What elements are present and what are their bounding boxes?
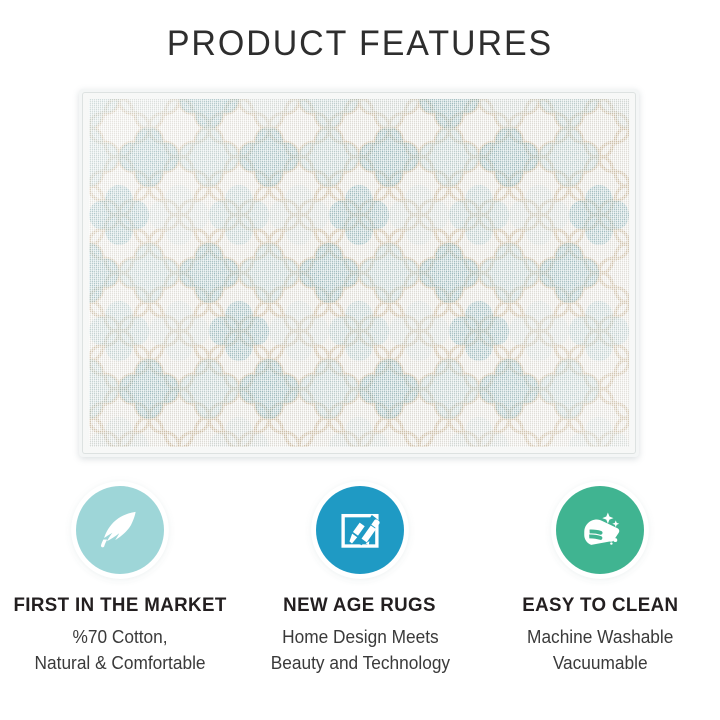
feature-line: %70 Cotton, [35,624,206,650]
feather-icon [93,503,147,557]
design-tools-icon [333,503,387,557]
feature-description: %70 Cotton, Natural & Comfortable [35,624,206,676]
page-title: PRODUCT FEATURES [11,22,709,66]
feature-heading: NEW AGE RUGS [284,593,437,617]
product-features-page: PRODUCT FEATURES [0,0,720,720]
cleaning-hand-icon [572,502,628,558]
product-image [82,92,636,454]
feature-item-easy-to-clean: EASY TO CLEAN Machine Washable Vacuumabl… [480,486,720,676]
feature-description: Home Design Meets Beauty and Technology [270,624,449,676]
feature-item-new-age-rugs: NEW AGE RUGS Home Design Meets Beauty an… [240,486,480,676]
feature-line: Vacuumable [527,650,673,676]
feature-line: Natural & Comfortable [35,650,206,676]
feature-list: FIRST IN THE MARKET %70 Cotton, Natural … [0,486,720,676]
feature-line: Beauty and Technology [270,650,449,676]
feature-heading: EASY TO CLEAN [522,593,678,617]
rug-field [89,99,629,447]
rug-binding [82,92,636,454]
rug-pattern [89,99,629,447]
feature-item-first-in-the-market: FIRST IN THE MARKET %70 Cotton, Natural … [0,486,240,676]
feature-description: Machine Washable Vacuumable [527,624,673,676]
design-tools-icon-circle [316,486,404,574]
feature-heading: FIRST IN THE MARKET [13,593,226,617]
feature-line: Machine Washable [527,624,673,650]
feature-line: Home Design Meets [270,624,449,650]
cleaning-hand-icon-circle [556,486,644,574]
feather-icon-circle [76,486,164,574]
